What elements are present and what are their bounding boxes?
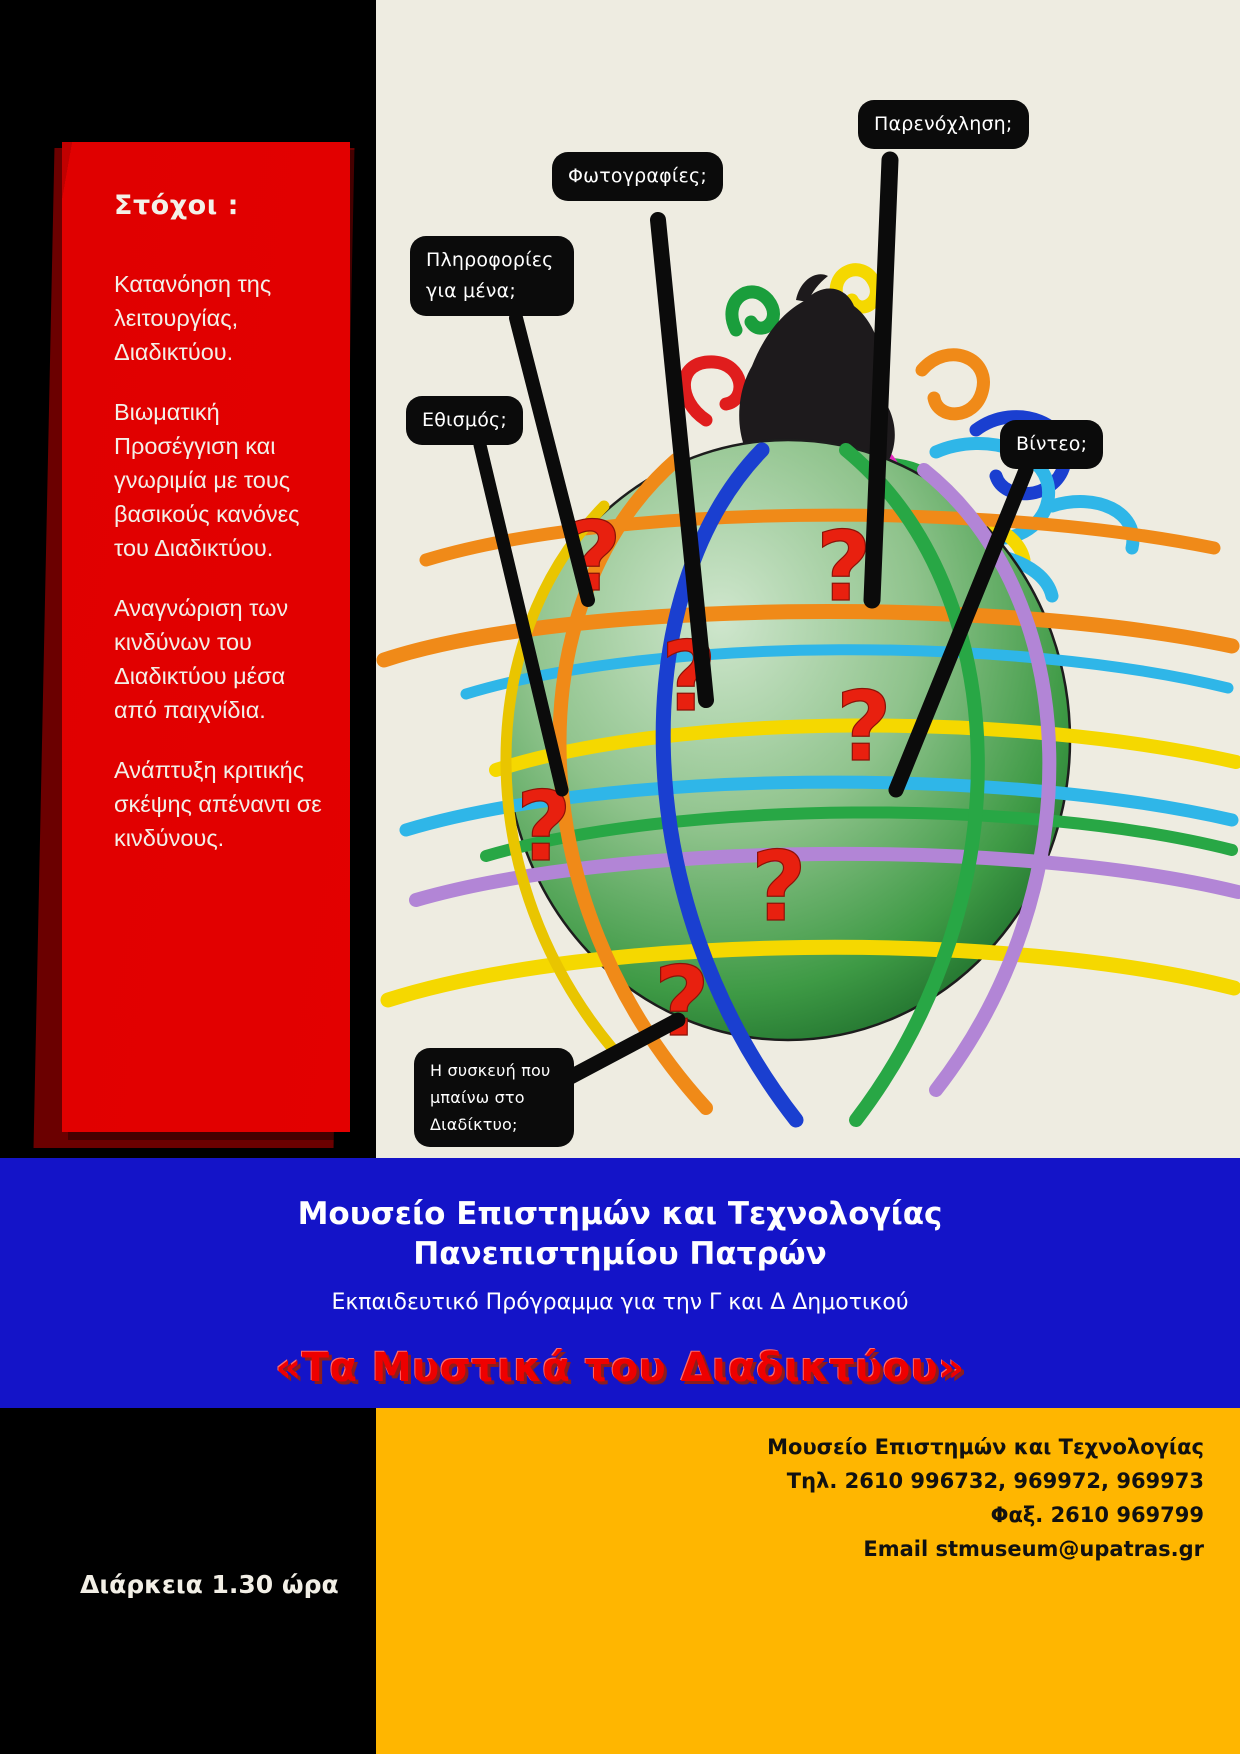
poster-root: ? ? ? ? ? ? ? xyxy=(0,0,1240,1754)
contact-line-0: Μουσείο Επιστημών και Τεχνολογίας xyxy=(767,1430,1204,1464)
contact-panel: Μουσείο Επιστημών και Τεχνολογίας Τηλ. 2… xyxy=(376,1408,1240,1754)
museum-name-line1: Μουσείο Επιστημών και Τεχνολογίας xyxy=(0,1158,1240,1234)
contact-line-3[interactable]: Email stmuseum@upatras.gr xyxy=(767,1532,1204,1566)
blue-banner: Μουσείο Επιστημών και Τεχνολογίας Πανεπι… xyxy=(0,1158,1240,1408)
contact-line-1: Τηλ. 2610 996732, 969972, 969973 xyxy=(767,1464,1204,1498)
goals-title: Στόχοι : xyxy=(114,190,334,221)
bubble-photos[interactable]: Φωτογραφίες; xyxy=(552,152,723,201)
goal-item-3: Ανάπτυξη κριτικής σκέψης απέναντι σε κιν… xyxy=(114,753,334,855)
program-title: «Τα Μυστικά του Διαδικτύου» xyxy=(0,1345,1240,1391)
bubble-device[interactable]: Η συσκευή που μπαίνω στο Διαδίκτυο; xyxy=(414,1048,574,1147)
contact-line-2: Φαξ. 2610 969799 xyxy=(767,1498,1204,1532)
program-subtitle: Εκπαιδευτικό Πρόγραμμα για την Γ και Δ Δ… xyxy=(0,1290,1240,1315)
goal-item-2: Αναγνώριση των κινδύνων του Διαδικτύου μ… xyxy=(114,591,334,727)
duration-label: Διάρκεια 1.30 ώρα xyxy=(80,1570,339,1599)
museum-name-line2: Πανεπιστημίου Πατρών xyxy=(0,1234,1240,1274)
bubble-info-about-me[interactable]: Πληροφορίες για μένα; xyxy=(410,236,574,316)
globe-illustration: ? ? ? ? ? ? ? xyxy=(376,0,1240,1158)
bubble-pointer-lines xyxy=(376,0,1240,1158)
bubble-addiction[interactable]: Εθισμός; xyxy=(406,396,523,445)
goal-item-0: Κατανόηση της λειτουργίας, Διαδικτύου. xyxy=(114,267,334,369)
goals-panel: Στόχοι : Κατανόηση της λειτουργίας, Διαδ… xyxy=(62,142,350,1132)
bubble-video[interactable]: Βίντεο; xyxy=(1000,420,1103,469)
bubble-harassment[interactable]: Παρενόχληση; xyxy=(858,100,1029,149)
illustration-stage: ? ? ? ? ? ? ? xyxy=(376,0,1240,1158)
goal-item-1: Βιωματική Προσέγγιση και γνωριμία με του… xyxy=(114,395,334,565)
contact-block: Μουσείο Επιστημών και Τεχνολογίας Τηλ. 2… xyxy=(767,1430,1204,1566)
